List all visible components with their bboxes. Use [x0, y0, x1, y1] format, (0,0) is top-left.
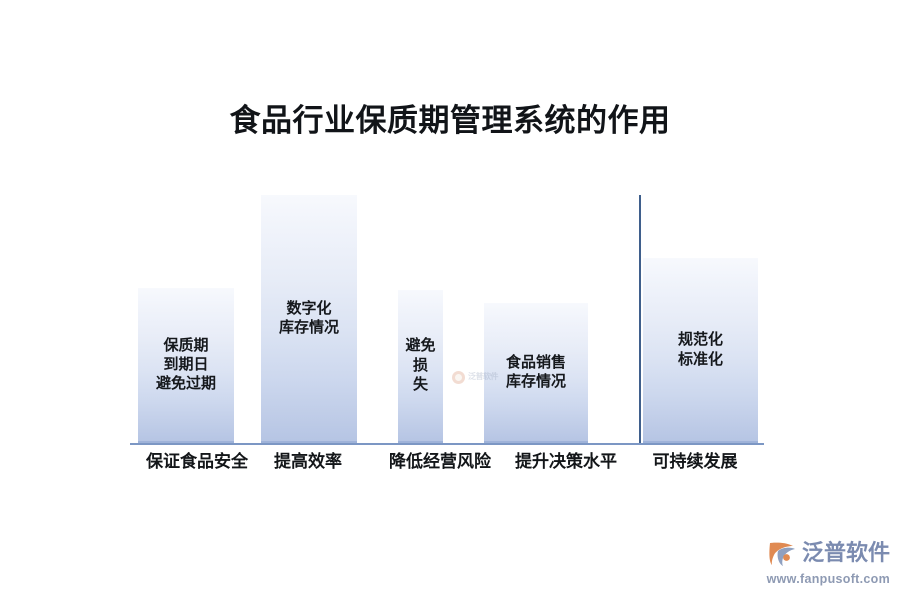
bar-4-label: 食品销售 库存情况	[506, 353, 566, 391]
plot-area: 保质期 到期日 避免过期 数字化 库存情况 避免 损 失 食品销售 库存情况 规…	[0, 0, 900, 600]
bar-2[interactable]: 数字化 库存情况	[261, 195, 357, 443]
bar-2-label: 数字化 库存情况	[279, 299, 339, 337]
category-label-5: 可持续发展	[640, 452, 750, 472]
category-label-4: 提升决策水平	[503, 452, 629, 472]
category-label-1: 保证食品安全	[130, 452, 264, 472]
bar-4[interactable]: 食品销售 库存情况	[484, 303, 588, 443]
axis-horizontal-line	[130, 443, 764, 445]
chart-canvas: 食品行业保质期管理系统的作用 保质期 到期日 避免过期 数字化 库存情况 避免 …	[0, 0, 900, 600]
bar-3[interactable]: 避免 损 失	[398, 290, 443, 443]
bar-1[interactable]: 保质期 到期日 避免过期	[138, 288, 234, 443]
bar-3-label: 避免 损 失	[405, 336, 435, 395]
bar-5[interactable]: 规范化 标准化	[643, 258, 758, 443]
bar-5-label: 规范化 标准化	[678, 330, 723, 368]
bar-1-label: 保质期 到期日 避免过期	[156, 336, 216, 394]
axis-vertical-line	[639, 195, 641, 444]
category-label-2: 提高效率	[266, 452, 350, 472]
category-label-3: 降低经营风险	[377, 452, 503, 472]
